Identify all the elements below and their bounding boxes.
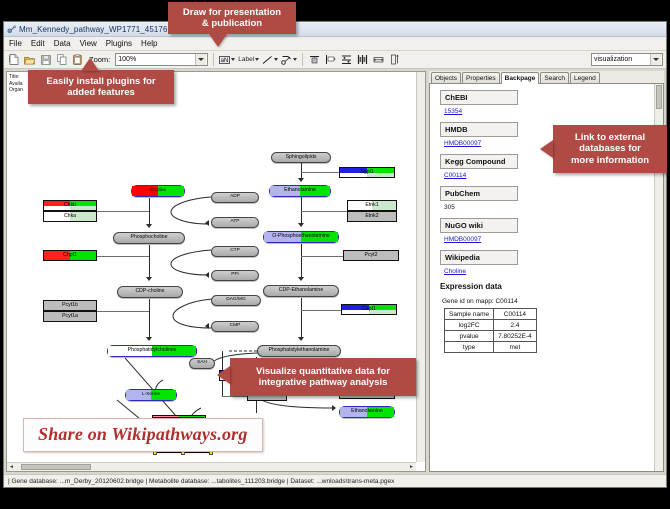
edge-pcyt1-to-reaction bbox=[97, 311, 149, 312]
meta-organism-line: Organ bbox=[9, 87, 23, 94]
datanode-dropdown[interactable]: aN bbox=[219, 55, 235, 65]
backpage-header-kegg: Kegg Compound bbox=[440, 154, 518, 169]
metabolite-node[interactable]: CDP-Ethanolamine bbox=[263, 285, 339, 297]
share-banner: Share on Wikipathways.org bbox=[23, 418, 263, 452]
cell-key-type: type bbox=[445, 342, 494, 353]
table-row: log2FC 2.4 bbox=[445, 320, 537, 331]
cell-val-log2fc: 2.4 bbox=[494, 320, 537, 331]
node-label: CTP bbox=[230, 249, 240, 254]
table-row: pvalue 7.80252E-4 bbox=[445, 331, 537, 342]
status-text: | Gene database: ...m_Derby_20120602.bri… bbox=[8, 478, 394, 485]
metabolite-node[interactable]: SAH bbox=[189, 358, 215, 369]
menu-item-file[interactable]: File bbox=[8, 39, 23, 48]
cell-val-type: met bbox=[494, 342, 537, 353]
menu-bar: File Edit Data View Plugins Help bbox=[4, 37, 666, 51]
share-banner-text: Share on Wikipathways.org bbox=[38, 424, 248, 444]
node-label: Ethanolamine bbox=[284, 188, 316, 193]
node-label: Chpt1 bbox=[63, 253, 77, 258]
chevron-down-icon[interactable] bbox=[255, 58, 259, 61]
metabolite-node[interactable]: ADP bbox=[211, 192, 259, 203]
node-label: Chka bbox=[64, 214, 76, 219]
edge-phosphoethanolamine-to-cdpethanolamine bbox=[301, 244, 302, 280]
gene-id-on-mapp: Gene id on mapp: C00114 bbox=[442, 298, 646, 305]
node-label: Chkb bbox=[64, 203, 76, 208]
metabolite-node[interactable]: Phosphatidylcholines bbox=[107, 345, 197, 357]
arrowhead-icon bbox=[298, 178, 304, 182]
node-label: Phosphocholine bbox=[131, 235, 168, 240]
backpage-header-chebi: ChEBI bbox=[440, 90, 518, 105]
callout-visualize-line1: Visualize quantitative data for bbox=[256, 366, 390, 378]
gene-product-node[interactable]: Sgpl1 bbox=[339, 167, 395, 178]
hmdb-id-link[interactable]: HMDB00097 bbox=[444, 140, 481, 147]
zoom-value: 100% bbox=[118, 56, 136, 63]
callout-plugins: Easily install plugins for added feature… bbox=[28, 70, 174, 104]
node-label: Pcyt1a bbox=[62, 314, 78, 319]
pathway-canvas[interactable]: Title: Availa Organ bbox=[7, 72, 425, 471]
chevron-down-icon[interactable] bbox=[274, 58, 278, 61]
tool-bar: Zoom: 100% aN Label bbox=[4, 51, 666, 69]
toolbar-divider bbox=[302, 53, 303, 66]
node-label: Sgpl1 bbox=[360, 170, 373, 175]
arrowhead-icon bbox=[205, 220, 209, 226]
receptor-dropdown[interactable] bbox=[281, 55, 297, 65]
menu-item-edit[interactable]: Edit bbox=[30, 39, 46, 48]
expression-data-heading: Expression data bbox=[440, 282, 646, 291]
node-label: Phosphatidylcholines bbox=[128, 348, 177, 353]
title-bar: Mm_Kennedy_pathway_WP1771_45176.gpml bbox=[4, 22, 666, 37]
edge-etnk-to-reaction bbox=[301, 211, 349, 212]
callout-visualize-line2: integrative pathway analysis bbox=[259, 377, 388, 389]
node-label: SAH bbox=[197, 361, 207, 366]
table-row: type met bbox=[445, 342, 537, 353]
chevron-down-icon[interactable] bbox=[195, 54, 206, 65]
new-document-icon[interactable] bbox=[7, 53, 20, 67]
node-label: Cept1 bbox=[362, 307, 376, 312]
scroll-right-icon[interactable]: ► bbox=[407, 463, 416, 472]
align-left-icon[interactable] bbox=[324, 53, 337, 67]
metabolite-node[interactable]: Ethanolamine bbox=[339, 406, 395, 418]
gene-product-node[interactable]: Pcyt2 bbox=[343, 250, 399, 261]
arrowhead-icon bbox=[298, 337, 304, 341]
edge-cdpethanolamine-to-ptdethanolamine bbox=[301, 298, 302, 340]
arrowhead-icon bbox=[332, 405, 336, 411]
scroll-thumb[interactable] bbox=[21, 464, 91, 470]
tab-backpage[interactable]: Backpage bbox=[501, 72, 540, 84]
gene-product-node[interactable]: Pcyt1b bbox=[43, 300, 97, 311]
open-folder-icon[interactable] bbox=[23, 53, 36, 67]
callout-links-line1: Link to external bbox=[575, 132, 645, 144]
edge-cept1-to-reaction bbox=[301, 310, 343, 311]
edge-sgpl1-to-reaction bbox=[301, 172, 341, 173]
gene-product-node[interactable]: Chkb bbox=[43, 200, 97, 211]
pathway-canvas-panel[interactable]: Title: Availa Organ bbox=[6, 71, 426, 472]
node-label: CDP-Ethanolamine bbox=[279, 288, 323, 293]
chevron-down-icon[interactable] bbox=[650, 54, 661, 65]
tab-search[interactable]: Search bbox=[540, 72, 569, 83]
metabolite-node[interactable]: DAG/MG bbox=[211, 295, 261, 306]
distribute-vertical-icon[interactable] bbox=[340, 53, 353, 67]
node-label: Pcyt2 bbox=[365, 253, 378, 258]
gene-product-node[interactable]: Cept1 bbox=[341, 304, 397, 315]
chevron-down-icon[interactable] bbox=[293, 58, 297, 61]
gene-product-node[interactable]: Pcyt1a bbox=[43, 311, 97, 322]
node-label: ATP bbox=[231, 220, 240, 225]
node-label: Etnk1 bbox=[365, 203, 378, 208]
arrowhead-icon bbox=[146, 337, 152, 341]
backpage-header-hmdb: HMDB bbox=[440, 122, 518, 137]
node-label: Ethanolamine bbox=[351, 409, 383, 414]
backpage-header-wikipedia: Wikipedia bbox=[440, 250, 518, 265]
tab-objects[interactable]: Objects bbox=[431, 72, 461, 83]
node-label: DAG/MG bbox=[226, 298, 245, 303]
copy-icon[interactable] bbox=[55, 53, 68, 67]
tab-properties[interactable]: Properties bbox=[462, 72, 500, 83]
cell-val-pvalue: 7.80252E-4 bbox=[494, 331, 537, 342]
node-label: O-Phosphoethanolamine bbox=[272, 234, 329, 239]
floppy-disk-icon[interactable] bbox=[39, 53, 52, 67]
tab-legend[interactable]: Legend bbox=[570, 72, 600, 83]
same-height-icon[interactable] bbox=[388, 53, 401, 67]
metabolite-node[interactable]: L-Serine bbox=[125, 389, 177, 401]
zoom-combobox[interactable]: 100% bbox=[115, 53, 208, 66]
callout-links-line2: databases for bbox=[579, 143, 641, 155]
metabolite-node[interactable]: Choline bbox=[131, 185, 185, 197]
scroll-thumb[interactable] bbox=[656, 85, 662, 109]
kegg-id-link[interactable]: C00114 bbox=[444, 172, 466, 179]
expression-data-table: Sample name C00114 log2FC 2.4 pvalue 7.8… bbox=[444, 308, 537, 353]
metabolite-node[interactable]: Sphingolipids bbox=[271, 152, 331, 163]
sidebar-tabstrip: Objects Properties Backpage Search Legen… bbox=[429, 71, 664, 84]
status-bar: | Gene database: ...m_Derby_20120602.bri… bbox=[4, 474, 666, 487]
arrowhead-icon bbox=[298, 223, 304, 227]
callout-visualize-pointer-icon bbox=[217, 366, 230, 384]
arrowhead-icon bbox=[205, 272, 209, 278]
node-label: Phosphatidylethanolamine bbox=[269, 348, 330, 353]
menu-item-view[interactable]: View bbox=[79, 39, 98, 48]
callout-draw-pointer-icon bbox=[209, 34, 227, 47]
callout-plugins-line2: added features bbox=[67, 87, 135, 99]
line-icon bbox=[262, 55, 273, 65]
menu-item-plugins[interactable]: Plugins bbox=[105, 39, 133, 48]
canvas-vertical-scrollbar[interactable] bbox=[416, 72, 425, 462]
receptor-icon bbox=[281, 55, 292, 65]
window-title: Mm_Kennedy_pathway_WP1771_45176.gpml bbox=[19, 25, 188, 34]
backpage-header-nugowiki: NuGO wiki bbox=[440, 218, 518, 233]
distribute-horizontal-icon[interactable] bbox=[356, 53, 369, 67]
chevron-down-icon[interactable] bbox=[231, 58, 235, 61]
node-label: Pcyt1b bbox=[62, 303, 78, 308]
edge-chpt1-to-reaction bbox=[97, 256, 149, 257]
edge-chk-to-reaction bbox=[97, 211, 149, 212]
metabolite-node[interactable]: Phosphocholine bbox=[113, 232, 185, 244]
label-dropdown-label: Label bbox=[238, 56, 254, 63]
datanode-icon: aN bbox=[219, 55, 230, 65]
align-top-icon[interactable] bbox=[308, 53, 321, 67]
callout-links: Link to external databases for more info… bbox=[553, 125, 667, 173]
label-dropdown[interactable]: Label bbox=[238, 56, 259, 63]
gene-product-node[interactable]: Chka bbox=[43, 211, 97, 222]
svg-text:aN: aN bbox=[221, 58, 229, 64]
nugowiki-id-link[interactable]: HMDB00097 bbox=[444, 236, 481, 243]
toolbar-divider bbox=[213, 53, 214, 66]
metabolite-node[interactable]: O-Phosphoethanolamine bbox=[263, 231, 339, 243]
menu-item-data[interactable]: Data bbox=[53, 39, 72, 48]
node-label: L-Serine bbox=[142, 393, 160, 398]
node-label: Choline bbox=[150, 189, 166, 194]
visualization-value: visualization bbox=[594, 56, 632, 63]
cofactor-curve-ctp-ppi bbox=[145, 244, 219, 284]
callout-plugins-line1: Easily install plugins for bbox=[46, 76, 155, 88]
gene-product-node[interactable]: Etnk2 bbox=[347, 211, 397, 222]
callout-links-pointer-icon bbox=[540, 140, 553, 158]
cell-key-pvalue: pvalue bbox=[445, 331, 494, 342]
cell-val-sample-name: C00114 bbox=[494, 309, 537, 320]
cell-key-sample-name: Sample name bbox=[445, 309, 494, 320]
metabolite-node[interactable]: CMP bbox=[211, 321, 259, 332]
metabolite-node[interactable]: CTP bbox=[211, 246, 259, 257]
gene-product-node[interactable]: Chpt1 bbox=[43, 250, 97, 261]
gene-product-node[interactable]: Etnk1 bbox=[347, 200, 397, 211]
wikipedia-link[interactable]: Choline bbox=[444, 268, 466, 275]
backpage-header-pubchem: PubChem bbox=[440, 186, 518, 201]
menu-item-help[interactable]: Help bbox=[140, 39, 158, 48]
node-label: CMP bbox=[230, 324, 241, 329]
arrowhead-icon bbox=[205, 323, 209, 329]
node-label: PPi bbox=[231, 273, 238, 278]
same-width-icon[interactable] bbox=[372, 53, 385, 67]
cell-key-log2fc: log2FC bbox=[445, 320, 494, 331]
metabolite-node[interactable]: CDP-choline bbox=[117, 286, 183, 298]
line-dropdown[interactable] bbox=[262, 55, 278, 65]
pathvisio-app-icon bbox=[7, 25, 16, 34]
metabolite-node[interactable]: ATP bbox=[211, 217, 259, 228]
node-label: ADP bbox=[230, 195, 240, 200]
callout-draw: Draw for presentation & publication bbox=[168, 2, 296, 34]
callout-draw-line2: & publication bbox=[202, 18, 262, 30]
pathway-metadata: Title: Availa Organ bbox=[9, 74, 23, 94]
edge-pcyt2-to-reaction bbox=[301, 256, 345, 257]
callout-plugins-pointer-icon bbox=[81, 58, 99, 71]
scroll-left-icon[interactable]: ◄ bbox=[7, 463, 16, 472]
node-label: Sphingolipids bbox=[286, 155, 317, 160]
table-row: Sample name C00114 bbox=[445, 309, 537, 320]
callout-links-line3: more information bbox=[571, 155, 649, 167]
canvas-horizontal-scrollbar[interactable]: ◄ ► bbox=[7, 462, 416, 471]
pubchem-id-value: 305 bbox=[444, 204, 455, 211]
node-label: CDP-choline bbox=[135, 289, 164, 294]
callout-draw-line1: Draw for presentation bbox=[183, 7, 281, 19]
node-label: Etnk2 bbox=[365, 214, 378, 219]
visualization-combobox[interactable]: visualization bbox=[591, 53, 663, 66]
metabolite-node[interactable]: PPi bbox=[211, 270, 259, 281]
callout-visualize: Visualize quantitative data for integrat… bbox=[230, 358, 416, 396]
metabolite-node[interactable]: Ethanolamine bbox=[269, 185, 331, 197]
chebi-id-link[interactable]: 15354 bbox=[444, 108, 462, 115]
metabolite-node[interactable]: Phosphatidylethanolamine bbox=[257, 345, 341, 357]
arrowhead-icon bbox=[298, 277, 304, 281]
